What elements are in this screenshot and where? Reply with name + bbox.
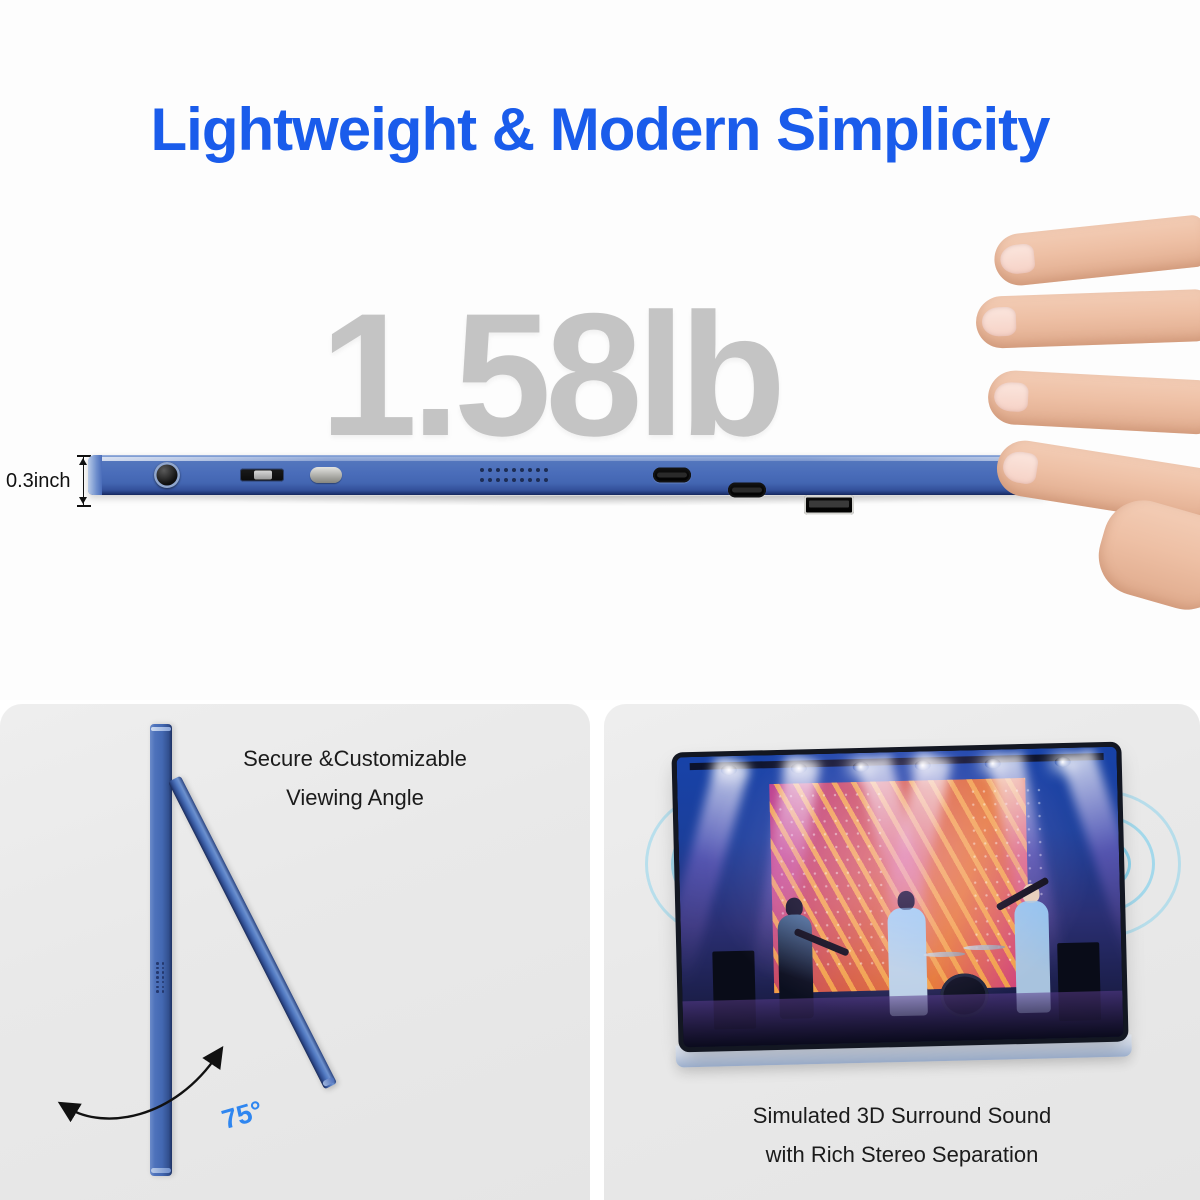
thickness-label: 0.3inch [6, 470, 71, 493]
mini-hdmi-port-icon [804, 496, 854, 515]
slider-switch-icon [240, 469, 284, 482]
thickness-callout: 0.3inch [6, 455, 91, 507]
surround-sound-caption-line2: with Rich Stereo Separation [604, 1136, 1200, 1175]
infographic-root: Lightweight & Modern Simplicity 1.58lb 0… [0, 0, 1200, 1200]
weight-watermark: 1.58lb [320, 288, 780, 463]
surround-sound-caption: Simulated 3D Surround Sound with Rich St… [604, 1097, 1200, 1174]
monitor-screen [677, 747, 1124, 1048]
device-edge-view [88, 455, 1048, 495]
usb-c-port-2-icon [728, 483, 766, 498]
ring-finger [987, 369, 1200, 435]
hand-holding-device [980, 215, 1200, 615]
surround-sound-caption-line1: Simulated 3D Surround Sound [604, 1097, 1200, 1136]
palm [1089, 491, 1200, 619]
feature-panels: Secure &Customizable Viewing Angle [0, 704, 1200, 1200]
monitor-front-view [677, 747, 1124, 1048]
usb-c-port-1-icon [653, 468, 691, 483]
hero-section: Lightweight & Modern Simplicity 1.58lb 0… [0, 0, 1200, 700]
speaker-grille-icon [478, 465, 550, 485]
panel-viewing-angle: Secure &Customizable Viewing Angle [0, 704, 590, 1200]
headphone-jack-icon [154, 462, 180, 488]
panel-surround-sound: Simulated 3D Surround Sound with Rich St… [604, 704, 1200, 1200]
middle-finger [975, 289, 1200, 349]
menu-button-icon [310, 467, 342, 483]
concert-scene-image [677, 747, 1124, 1048]
index-finger [992, 214, 1200, 288]
angle-arrow-icon [46, 980, 306, 1150]
page-title: Lightweight & Modern Simplicity [0, 95, 1200, 164]
